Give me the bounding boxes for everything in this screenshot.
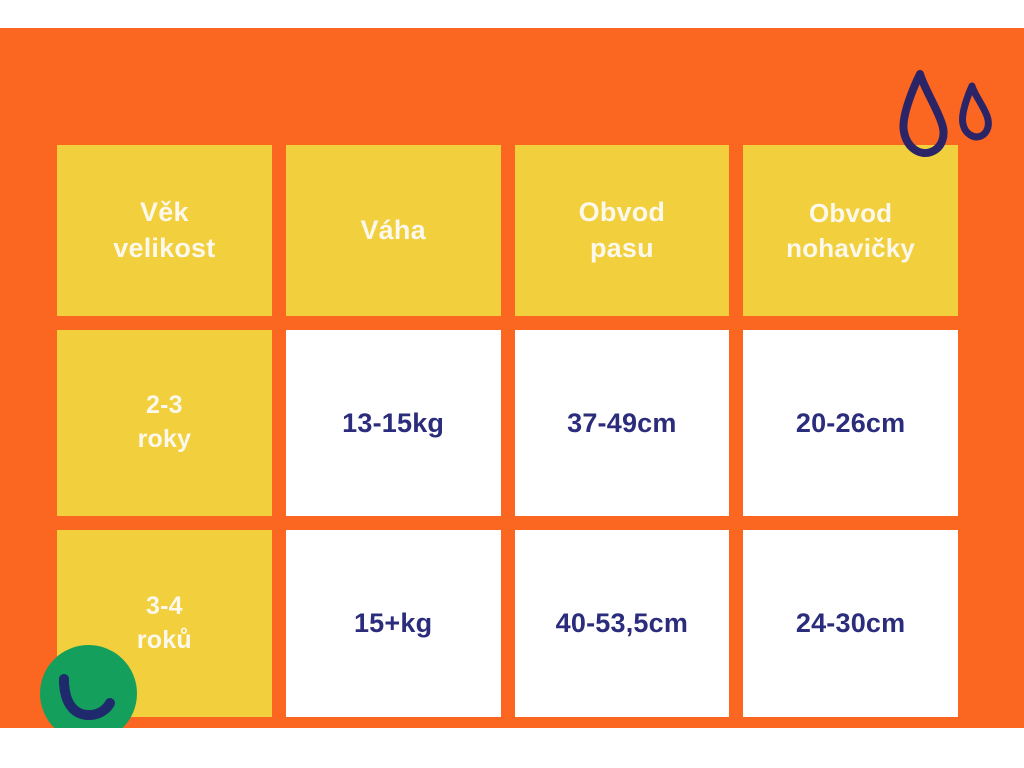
- row-leg-value-text: 24-30cm: [796, 608, 905, 639]
- row-weight-value: 15+kg: [286, 530, 501, 717]
- row-weight-value-text: 15+kg: [354, 608, 432, 639]
- row-weight-value: 13-15kg: [286, 330, 501, 516]
- size-chart-canvas: Věk velikost Váha Obvod pasu Obvod nohav…: [0, 0, 1024, 768]
- orange-banner: Věk velikost Váha Obvod pasu Obvod nohav…: [0, 28, 1024, 728]
- table-header-leg-circumference: Obvod nohavičky: [743, 145, 958, 316]
- row-waist-value-text: 40-53,5cm: [556, 608, 688, 639]
- row-age-label: 2-3 roky: [138, 389, 192, 457]
- table-header-weight: Váha: [286, 145, 501, 316]
- table-header-waist-label: Obvod pasu: [579, 195, 666, 266]
- smiley-face-icon: [40, 645, 137, 728]
- row-leg-value-text: 20-26cm: [796, 408, 905, 439]
- row-age-label: 3-4 roků: [137, 590, 192, 658]
- size-table: Věk velikost Váha Obvod pasu Obvod nohav…: [57, 145, 958, 689]
- table-header-age-size-label: Věk velikost: [113, 195, 215, 266]
- table-row: 2-3 roky: [57, 330, 272, 516]
- row-waist-value: 40-53,5cm: [515, 530, 730, 717]
- smiley-mouth-icon: [40, 645, 137, 728]
- table-header-age-size: Věk velikost: [57, 145, 272, 316]
- row-waist-value: 37-49cm: [515, 330, 730, 516]
- row-leg-value: 20-26cm: [743, 330, 958, 516]
- row-waist-value-text: 37-49cm: [567, 408, 676, 439]
- table-header-waist: Obvod pasu: [515, 145, 730, 316]
- row-leg-value: 24-30cm: [743, 530, 958, 717]
- table-header-leg-circumference-label: Obvod nohavičky: [786, 196, 915, 265]
- row-weight-value-text: 13-15kg: [342, 408, 444, 439]
- table-header-weight-label: Váha: [360, 213, 425, 249]
